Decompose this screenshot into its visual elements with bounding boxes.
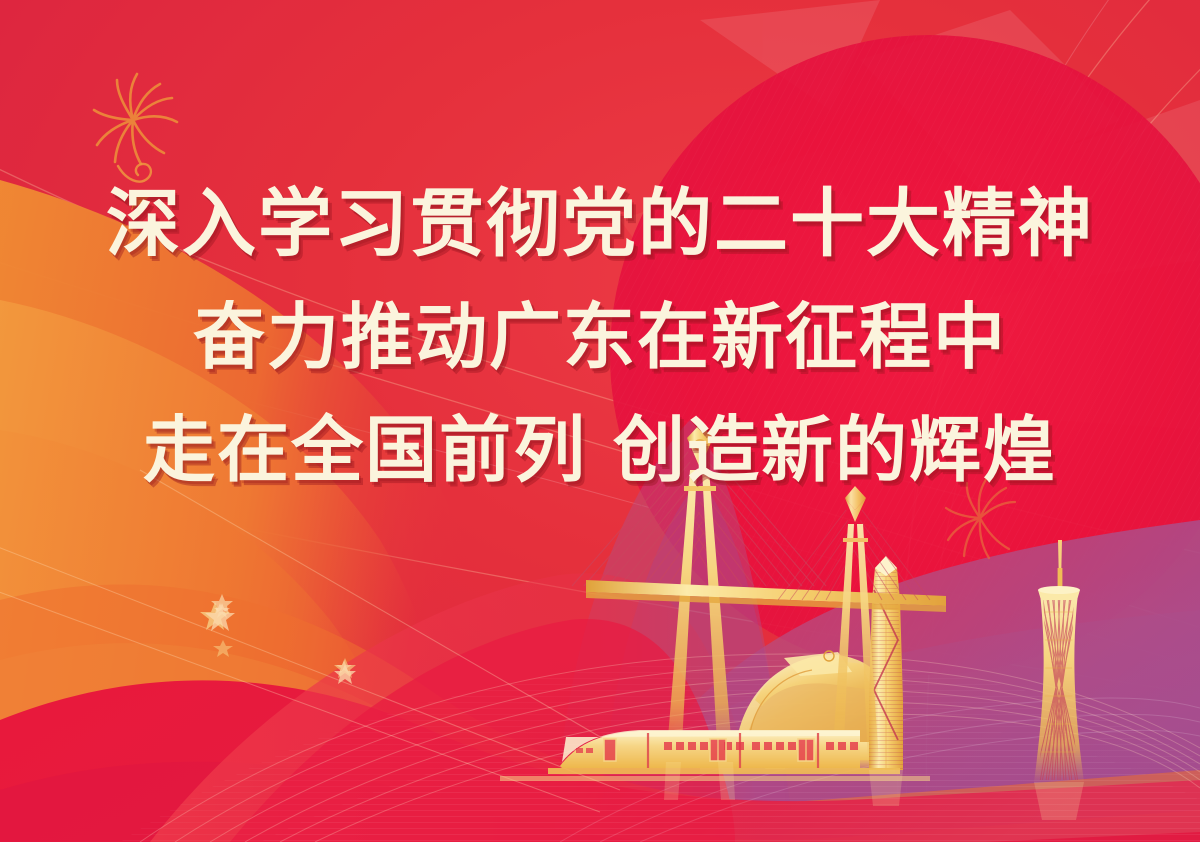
firework-top-left [94,74,177,164]
decorations [0,0,1200,842]
decor-stars [200,594,356,678]
poster-canvas: 深入学习贯彻党的二十大精神 奋力推动广东在新征程中 走在全国前列创造新的辉煌 [0,0,1200,842]
firework-right [946,478,1015,558]
